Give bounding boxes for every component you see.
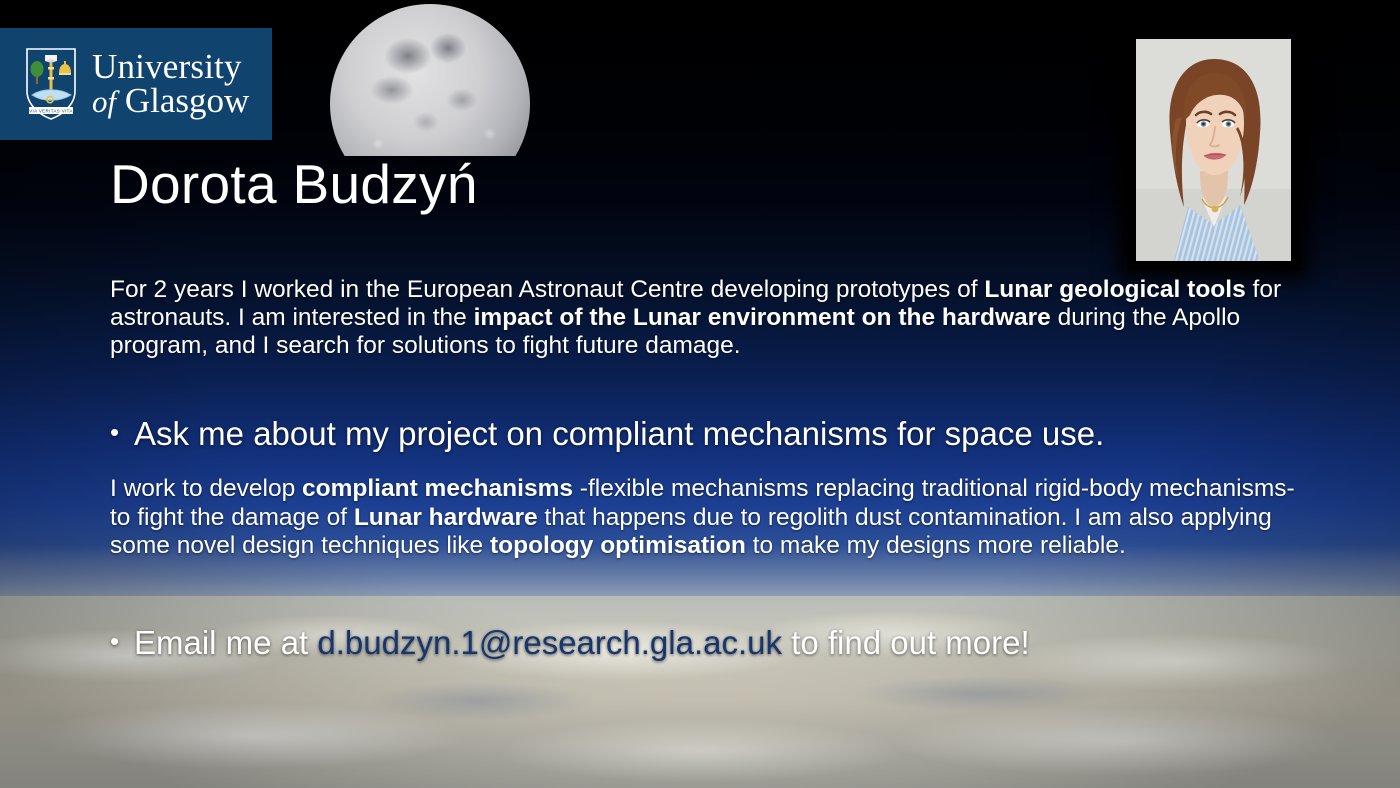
bullet-marker-icon: • xyxy=(110,624,134,659)
bullet-email-text: Email me at d.budzyn.1@research.gla.ac.u… xyxy=(134,624,1296,663)
bullet-email: • Email me at d.budzyn.1@research.gla.ac… xyxy=(110,624,1296,663)
logo-glasgow-word: Glasgow xyxy=(125,81,249,120)
logo-line-university: University xyxy=(92,50,249,84)
email-suffix: to find out more! xyxy=(782,624,1030,661)
text-run: For 2 years I worked in the European Ast… xyxy=(110,276,984,303)
logo-of-word: of xyxy=(92,84,116,119)
glasgow-crest-icon: VIA VERITAS VITA xyxy=(24,47,78,121)
bold-text-run: Lunar geological tools xyxy=(984,276,1245,303)
text-run: I work to develop xyxy=(110,475,302,502)
bullet-project: • Ask me about my project on compliant m… xyxy=(110,415,1296,454)
portrait-image xyxy=(1136,39,1291,261)
bold-text-run: compliant mechanisms xyxy=(302,475,573,502)
moon-disc xyxy=(330,4,530,156)
slide-body: For 2 years I worked in the European Ast… xyxy=(110,276,1296,663)
bold-text-run: impact of the Lunar environment on the h… xyxy=(474,304,1051,331)
logo-line-of-glasgow: of Glasgow xyxy=(92,84,249,118)
bullet-marker-icon: • xyxy=(110,415,134,450)
text-run: to make my designs more reliable. xyxy=(746,532,1126,559)
bold-text-run: topology optimisation xyxy=(490,532,746,559)
university-of-glasgow-logo: VIA VERITAS VITA University of Glasgow xyxy=(0,28,272,140)
email-link[interactable]: d.budzyn.1@research.gla.ac.uk xyxy=(317,624,782,661)
detail-paragraph: I work to develop compliant mechanisms -… xyxy=(110,475,1296,560)
portrait-photo xyxy=(1127,30,1300,270)
crest-motto: VIA VERITAS VITA xyxy=(29,108,73,113)
presentation-slide: VIA VERITAS VITA University of Glasgow xyxy=(0,0,1400,788)
page-title: Dorota Budzyń xyxy=(110,152,478,216)
intro-paragraph: For 2 years I worked in the European Ast… xyxy=(110,276,1296,361)
portrait-illustration xyxy=(1136,39,1291,261)
bullet-project-text: Ask me about my project on compliant mec… xyxy=(134,415,1296,454)
moon-image xyxy=(330,4,530,156)
email-prefix: Email me at xyxy=(134,624,317,661)
logo-wordmark: University of Glasgow xyxy=(92,50,249,119)
bold-text-run: Lunar hardware xyxy=(354,504,538,531)
